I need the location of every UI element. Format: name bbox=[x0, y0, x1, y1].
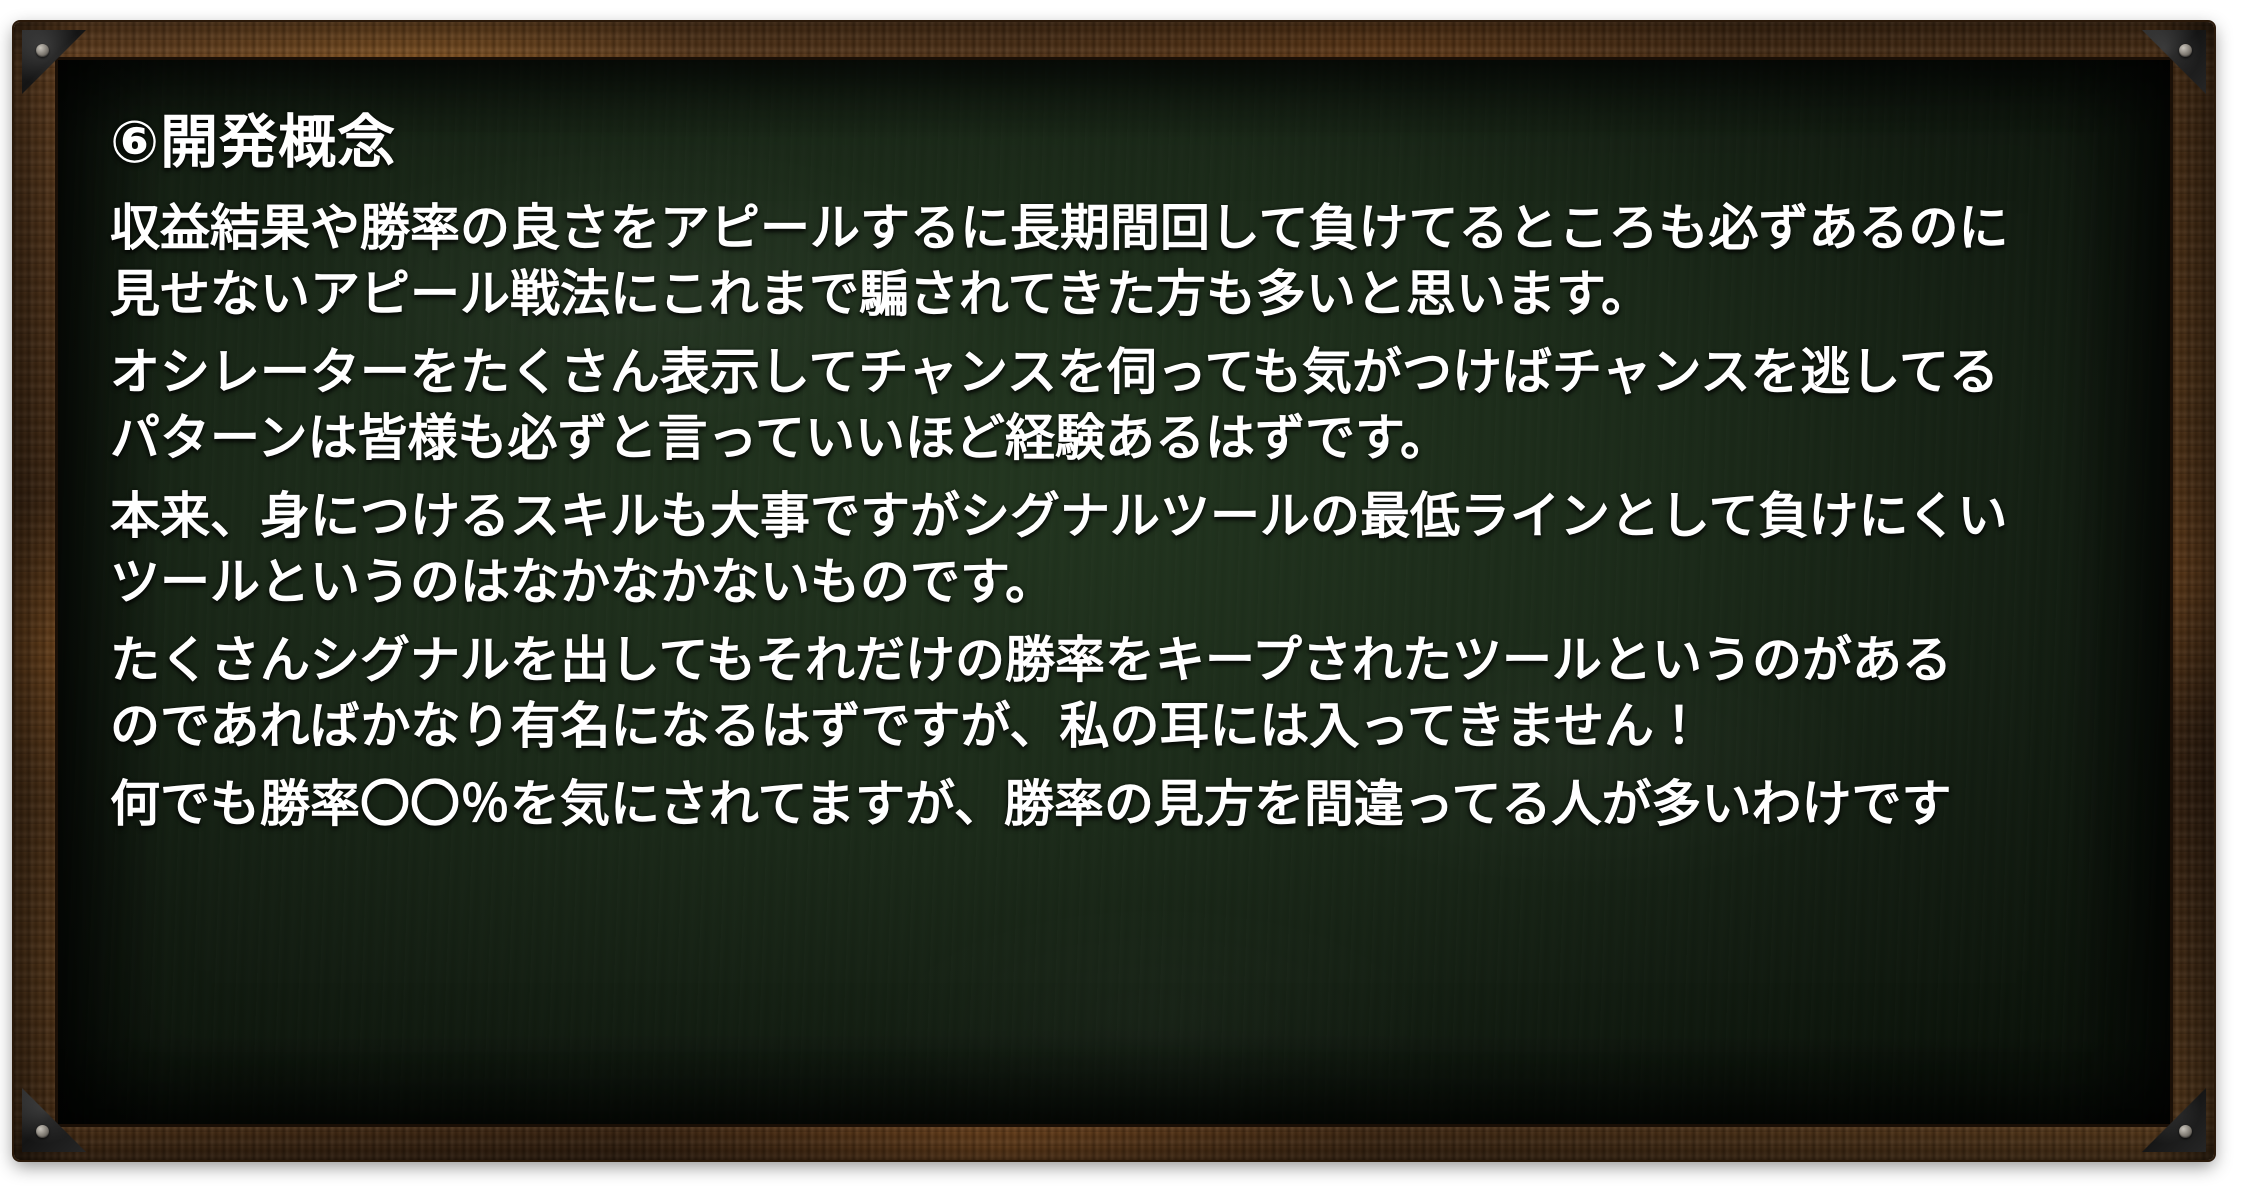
board-text-line: パターンは皆様も必ずと言っていいほど経験あるはずです。 bbox=[110, 405, 2120, 471]
board-text-line: 何でも勝率〇〇％を気にされてますが、勝率の見方を間違ってる人が多いわけです bbox=[110, 771, 2120, 837]
board-paragraph: 収益結果や勝率の良さをアピールするに長期間回して負けてるところも必ずあるのに見せ… bbox=[110, 195, 2120, 327]
board-text-line: 見せないアピール戦法にこれまで騙されてきた方も多いと思います。 bbox=[110, 261, 2120, 327]
board-content: ⑥開発概念 収益結果や勝率の良さをアピールするに長期間回して負けてるところも必ず… bbox=[110, 112, 2120, 837]
board-text-line: オシレーターをたくさん表示してチャンスを伺っても気がつけばチャンスを逃してる bbox=[110, 339, 2120, 405]
board-text-line: たくさんシグナルを出してもそれだけの勝率をキープされたツールというのがある bbox=[110, 627, 2120, 693]
board-text-line: 本来、身につけるスキルも大事ですがシグナルツールの最低ラインとして負けにくい bbox=[110, 483, 2120, 549]
board-text-line: のであればかなり有名になるはずですが、私の耳には入ってきません！ bbox=[110, 693, 2120, 759]
board-paragraph: オシレーターをたくさん表示してチャンスを伺っても気がつけばチャンスを逃してるパタ… bbox=[110, 339, 2120, 471]
board-text-line: ツールというのはなかなかないものです。 bbox=[110, 549, 2120, 615]
rivet-bottom-right bbox=[2179, 1125, 2192, 1138]
board-body-text: 収益結果や勝率の良さをアピールするに長期間回して負けてるところも必ずあるのに見せ… bbox=[110, 195, 2120, 837]
board-paragraph: 何でも勝率〇〇％を気にされてますが、勝率の見方を間違ってる人が多いわけです bbox=[110, 771, 2120, 837]
board-text-line: 収益結果や勝率の良さをアピールするに長期間回して負けてるところも必ずあるのに bbox=[110, 195, 2120, 261]
board-title: ⑥開発概念 bbox=[110, 112, 2120, 173]
screenshot-stage: ⑥開発概念 収益結果や勝率の良さをアピールするに長期間回して負けてるところも必ず… bbox=[0, 0, 2250, 1196]
chalkboard-surface: ⑥開発概念 収益結果や勝率の良さをアピールするに長期間回して負けてるところも必ず… bbox=[58, 60, 2170, 1124]
rivet-top-right bbox=[2179, 44, 2192, 57]
board-paragraph: たくさんシグナルを出してもそれだけの勝率をキープされたツールというのがあるのであ… bbox=[110, 627, 2120, 759]
board-paragraph: 本来、身につけるスキルも大事ですがシグナルツールの最低ラインとして負けにくいツー… bbox=[110, 483, 2120, 615]
blackboard-frame: ⑥開発概念 収益結果や勝率の良さをアピールするに長期間回して負けてるところも必ず… bbox=[14, 22, 2214, 1160]
rivet-bottom-left bbox=[36, 1125, 49, 1138]
rivet-top-left bbox=[36, 44, 49, 57]
